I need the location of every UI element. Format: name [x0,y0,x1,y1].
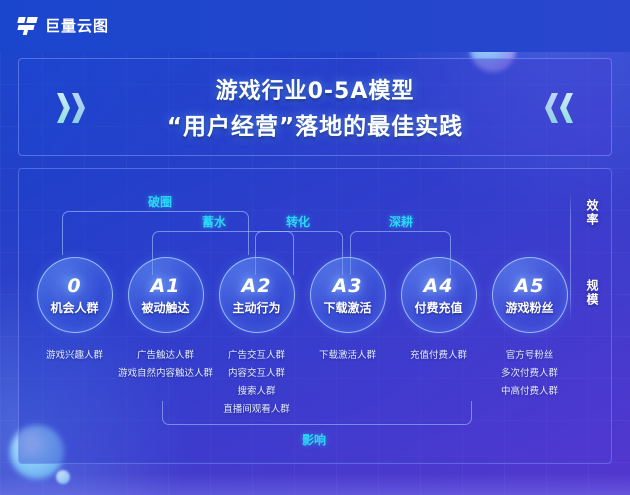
stage-code-0: 0 [67,275,81,297]
brand-logo-text: 巨量云图 [45,19,109,34]
bottom-label-influence: 影响 [302,431,326,448]
bottom-bracket-influence [162,401,472,425]
page-title-line-2: “用户经营”落地的最佳实践 [167,107,463,141]
stage-a5[interactable]: A5 游戏粉丝 官方号粉丝 多次付费人群 中高付费人群 [480,257,579,397]
stage-code-a1: A1 [151,275,181,297]
stage-circle-0[interactable]: 0 机会人群 [37,257,113,333]
stage-code-a3: A3 [333,275,363,297]
footer-glow [0,473,630,495]
stage-name-a4: 付费充值 [414,299,462,316]
stage-circle-a1[interactable]: A1 被动触达 [128,257,204,333]
stage-a3[interactable]: A3 下载激活 下载激活人群 [298,257,397,361]
stage-circle-a3[interactable]: A3 下载激活 [310,257,386,333]
stage-circle-a5[interactable]: A5 游戏粉丝 [492,257,568,333]
decorative-sphere-small [56,470,70,484]
stage-name-a5: 游戏粉丝 [505,299,553,316]
stage-tag: 多次付费人群 [501,365,558,379]
stage-code-a5: A5 [515,275,545,297]
stage-circle-a4[interactable]: A4 付费充值 [401,257,477,333]
stage-tag: 下载激活人群 [319,347,376,361]
stage-tag: 内容交互人群 [228,365,285,379]
brand-logo[interactable]: 巨量云图 [18,17,109,35]
header-bar: 巨量云图 [0,0,630,52]
stage-tag: 搜索人群 [237,383,275,397]
stage-tag: 游戏兴趣人群 [46,347,103,361]
stage-tag: 官方号粉丝 [506,347,554,361]
stage-name-a3: 下载激活 [323,299,371,316]
axis-divider [570,191,571,321]
stage-code-a2: A2 [242,275,272,297]
stage-code-a4: A4 [424,275,454,297]
axis-label-scale: 规模 [584,279,601,307]
stage-0[interactable]: 0 机会人群 游戏兴趣人群 [25,257,124,361]
poster-canvas: 巨量云图 游戏行业0-5A模型 “用户经营”落地的最佳实践 破圈 蓄水 转化 深… [0,0,630,495]
stage-name-a2: 主动行为 [232,299,280,316]
stage-a2[interactable]: A2 主动行为 广告交互人群 内容交互人群 搜索人群 直播间观看人群 [207,257,306,415]
stage-tags-a5: 官方号粉丝 多次付费人群 中高付费人群 [465,347,595,397]
page-title-line-1: 游戏行业0-5A模型 [216,73,415,105]
stage-tag: 广告交互人群 [228,347,285,361]
stage-a4[interactable]: A4 付费充值 充值付费人群 [389,257,488,361]
stage-tag: 中高付费人群 [501,383,558,397]
juliang-yuntu-logo-icon [18,17,38,35]
stage-name-a1: 被动触达 [141,299,189,316]
stage-tag: 充值付费人群 [410,347,467,361]
stage-tag: 广告触达人群 [137,347,194,361]
stage-circle-a2[interactable]: A2 主动行为 [219,257,295,333]
diagram-panel: 破圈 蓄水 转化 深耕 0 机会人群 游戏兴趣人群 A1 被动触达 [18,168,612,464]
axis-label-efficiency: 效率 [584,199,601,227]
title-panel: 游戏行业0-5A模型 “用户经营”落地的最佳实践 [18,58,612,156]
stage-name-0: 机会人群 [50,299,98,316]
